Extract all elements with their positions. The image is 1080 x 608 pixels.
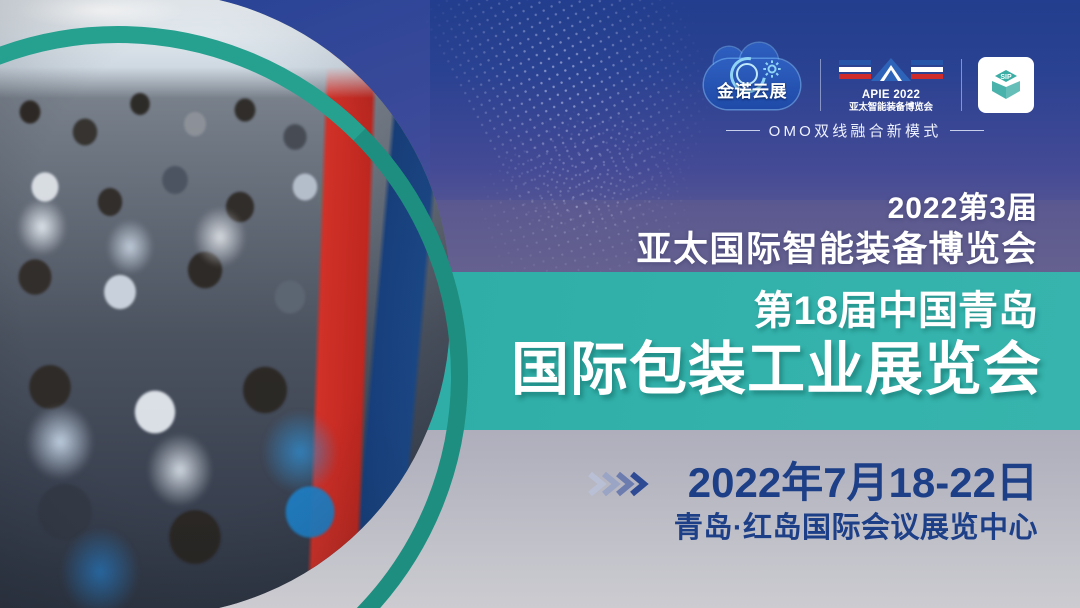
- headline-line-2: 亚太国际智能装备博览会: [636, 228, 1038, 272]
- green-headline-line-2: 国际包装工业展览会: [511, 336, 1042, 404]
- gear-icon: [762, 59, 782, 79]
- tagline-text: OMO双线融合新模式: [769, 120, 942, 141]
- tagline-rule-left: [726, 130, 760, 132]
- exhibition-photo: [0, 0, 470, 608]
- headline-line-1: 2022第3届: [888, 190, 1038, 228]
- logo-jinnuo-cloud: 金诺云展: [700, 55, 804, 115]
- photo-vignette: [0, 0, 450, 608]
- event-venue: 青岛·红岛国际会议展览中心: [674, 510, 1038, 546]
- logo-row: 金诺云展 APIE 2022 亚太智能装备博览会: [700, 52, 1020, 118]
- apie-triangle-icon: [839, 58, 943, 82]
- photo-clip-mask: [0, 0, 450, 608]
- apie-title: APIE 2022: [837, 89, 945, 102]
- logo-jinnuo-label: 金诺云展: [708, 77, 796, 102]
- green-headline-line-1: 第18届中国青岛: [754, 288, 1039, 334]
- logo-divider-2: [961, 59, 962, 111]
- chevron-right-icon: [586, 468, 658, 500]
- exhibition-promo-banner: 金诺云展 APIE 2022 亚太智能装备博览会: [0, 0, 1080, 608]
- event-date: 2022年7月18-22日: [688, 458, 1038, 508]
- apie-subtitle: 亚太智能装备博览会: [837, 102, 945, 113]
- omo-tagline: OMO双线融合新模式: [690, 120, 1020, 141]
- package-box-icon: SIP: [986, 65, 1026, 105]
- logo-package: SIP: [978, 57, 1034, 113]
- logo-divider-1: [820, 59, 821, 111]
- svg-text:SIP: SIP: [1000, 74, 1012, 81]
- apie-mark: [837, 54, 945, 88]
- tagline-rule-right: [950, 130, 984, 132]
- logo-apie: APIE 2022 亚太智能装备博览会: [837, 54, 945, 116]
